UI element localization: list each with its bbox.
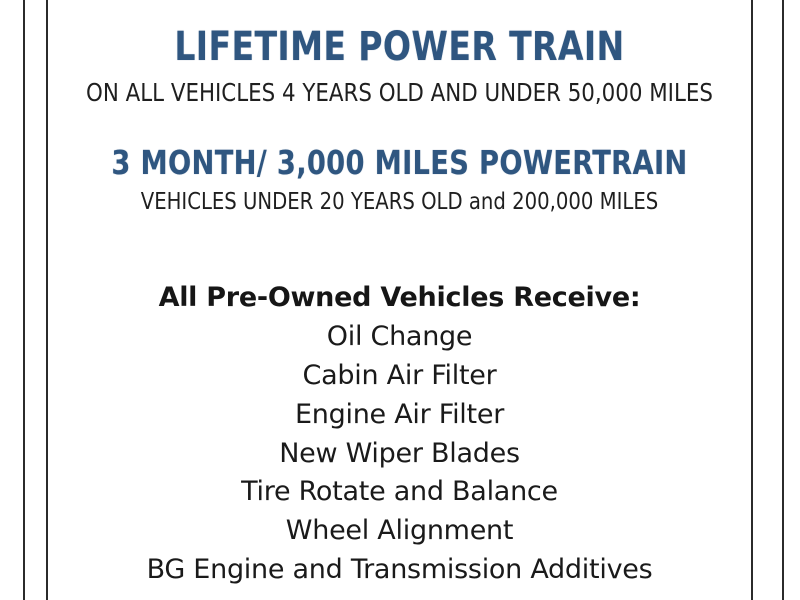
flyer-page: LIFETIME POWER TRAIN ON ALL VEHICLES 4 Y… [0, 0, 800, 600]
page-rule-left-outer [23, 0, 25, 600]
service-item: Engine Air Filter [48, 396, 751, 435]
services-heading: All Pre-Owned Vehicles Receive: [48, 279, 751, 318]
warranty-block-three-month: 3 MONTH/ 3,000 MILES POWERTRAIN VEHICLES… [48, 146, 751, 214]
service-item: Oil Change [48, 318, 751, 357]
warranty-block-lifetime: LIFETIME POWER TRAIN ON ALL VEHICLES 4 Y… [48, 27, 751, 105]
warranty-subtitle-lifetime: ON ALL VEHICLES 4 YEARS OLD AND UNDER 50… [66, 80, 734, 105]
warranty-title-three-month: 3 MONTH/ 3,000 MILES POWERTRAIN [76, 146, 723, 179]
warranty-subtitle-three-month: VEHICLES UNDER 20 YEARS OLD and 200,000 … [66, 191, 734, 214]
content-column: LIFETIME POWER TRAIN ON ALL VEHICLES 4 Y… [48, 0, 751, 600]
warranty-title-lifetime: LIFETIME POWER TRAIN [76, 27, 723, 67]
service-item: New Wiper Blades [48, 435, 751, 474]
service-item: Cabin Air Filter [48, 357, 751, 396]
page-rule-right-inner [751, 0, 753, 600]
page-rule-right-outer [782, 0, 784, 600]
service-item: Tire Rotate and Balance [48, 473, 751, 512]
service-item: Wheel Alignment [48, 512, 751, 551]
service-item: BG Engine and Transmission Additives [48, 551, 751, 590]
services-section: All Pre-Owned Vehicles Receive: Oil Chan… [48, 279, 751, 590]
